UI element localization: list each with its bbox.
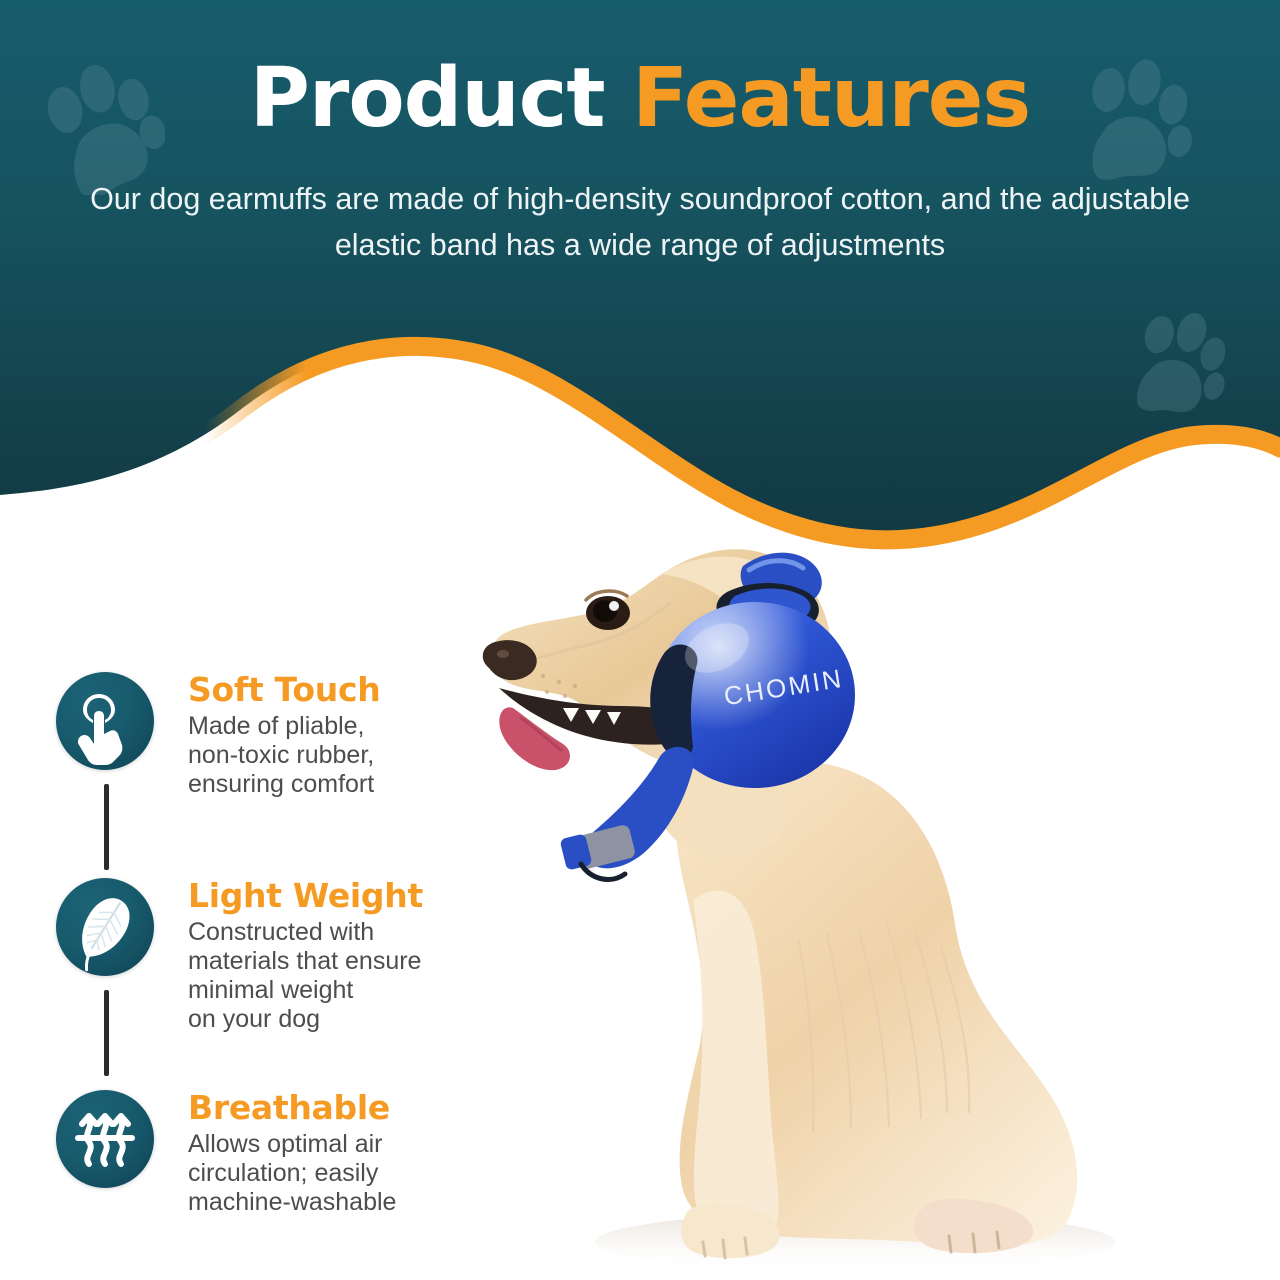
feature-icon-circle-soft-touch — [56, 672, 154, 770]
feature-text-soft-touch: Soft Touch Made of pliable, non-toxic ru… — [188, 672, 570, 799]
infographic-canvas: Product Features Our dog earmuffs are ma… — [0, 0, 1280, 1280]
title-word-product: Product — [250, 51, 632, 146]
feature-title-soft-touch: Soft Touch — [188, 672, 570, 708]
title-word-features: Features — [632, 51, 1030, 146]
feature-item-breathable[interactable]: Breathable Allows optimal air circulatio… — [50, 1090, 570, 1240]
feature-icon-circle-light-weight — [56, 878, 154, 976]
page-subtitle: Our dog earmuffs are made of high-densit… — [70, 176, 1210, 268]
feature-icon-circle-breathable — [56, 1090, 154, 1188]
hand-tap-icon — [56, 672, 154, 770]
feature-title-breathable: Breathable — [188, 1090, 570, 1126]
feature-title-light-weight: Light Weight — [188, 878, 570, 914]
feature-item-light-weight[interactable]: Light Weight Constructed with materials … — [50, 878, 570, 1034]
feature-text-breathable: Breathable Allows optimal air circulatio… — [188, 1090, 570, 1217]
feature-list: Soft Touch Made of pliable, non-toxic ru… — [50, 672, 570, 1240]
page-title: Product Features — [0, 58, 1280, 140]
feature-item-soft-touch[interactable]: Soft Touch Made of pliable, non-toxic ru… — [50, 672, 570, 822]
feather-icon — [56, 878, 154, 976]
feature-text-light-weight: Light Weight Constructed with materials … — [188, 878, 570, 1034]
feature-description-breathable: Allows optimal air circulation; easily m… — [188, 1130, 570, 1217]
feature-description-soft-touch: Made of pliable, non-toxic rubber, ensur… — [188, 712, 570, 799]
airflow-icon — [56, 1090, 154, 1188]
feature-description-light-weight: Constructed with materials that ensure m… — [188, 918, 570, 1034]
